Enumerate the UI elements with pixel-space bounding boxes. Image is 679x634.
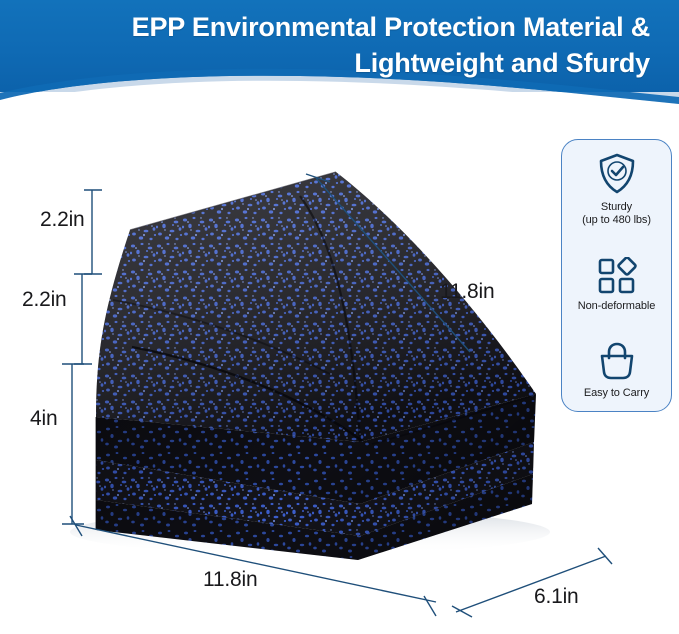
header-banner: EPP Environmental Protection Material & … (0, 0, 679, 112)
feature-item-easy-to-carry: Easy to Carry (566, 342, 667, 400)
feature-label-non-deformable: Non-deformable (578, 300, 655, 313)
dimension-label-depth: 6.1in (534, 585, 579, 609)
dimline-depth (456, 556, 606, 612)
dimension-label-height-top: 2.2in (40, 208, 85, 232)
dimension-label-base: 11.8in (203, 568, 257, 592)
dimension-label-height-bottom: 4in (30, 407, 57, 431)
dimension-label-height-middle: 2.2in (22, 288, 67, 312)
feature-label-sturdy: Sturdy (up to 480 lbs) (582, 201, 651, 227)
shield-check-icon (596, 152, 638, 196)
product-infographic: EPP Environmental Protection Material & … (0, 0, 679, 634)
four-shapes-icon (596, 257, 638, 295)
product-wedge (96, 172, 536, 560)
feature-item-non-deformable: Non-deformable (566, 257, 667, 313)
feature-panel: Sturdy (up to 480 lbs) Non-deformable (561, 139, 672, 412)
page-title: EPP Environmental Protection Material & … (40, 9, 650, 81)
dimension-label-slope: 11.8in (440, 280, 494, 304)
feature-item-sturdy: Sturdy (up to 480 lbs) (566, 152, 667, 227)
handbag-icon (596, 342, 638, 382)
feature-label-easy-to-carry: Easy to Carry (584, 387, 649, 400)
